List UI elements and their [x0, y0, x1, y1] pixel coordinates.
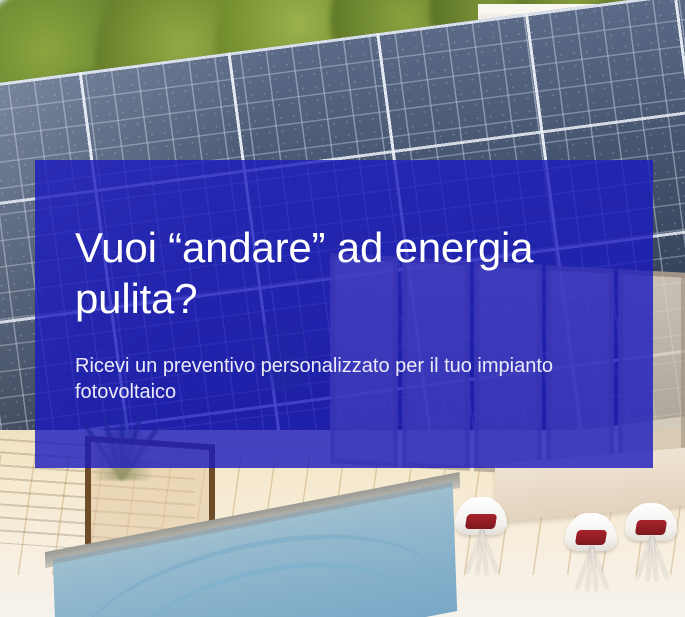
hero-banner: Vuoi “andare” ad energia pulita? Ricevi … [0, 0, 685, 617]
hero-subheading: Ricevi un preventivo personalizzato per … [75, 353, 595, 405]
chair-legs [461, 531, 501, 575]
chair-cushion [465, 514, 497, 529]
chair-cushion [575, 530, 607, 545]
chair-legs [631, 537, 671, 581]
hero-text-overlay: Vuoi “andare” ad energia pulita? Ricevi … [35, 160, 653, 468]
chair-legs [571, 547, 611, 591]
hero-heading: Vuoi “andare” ad energia pulita? [75, 222, 613, 324]
chair-cushion [635, 520, 667, 535]
